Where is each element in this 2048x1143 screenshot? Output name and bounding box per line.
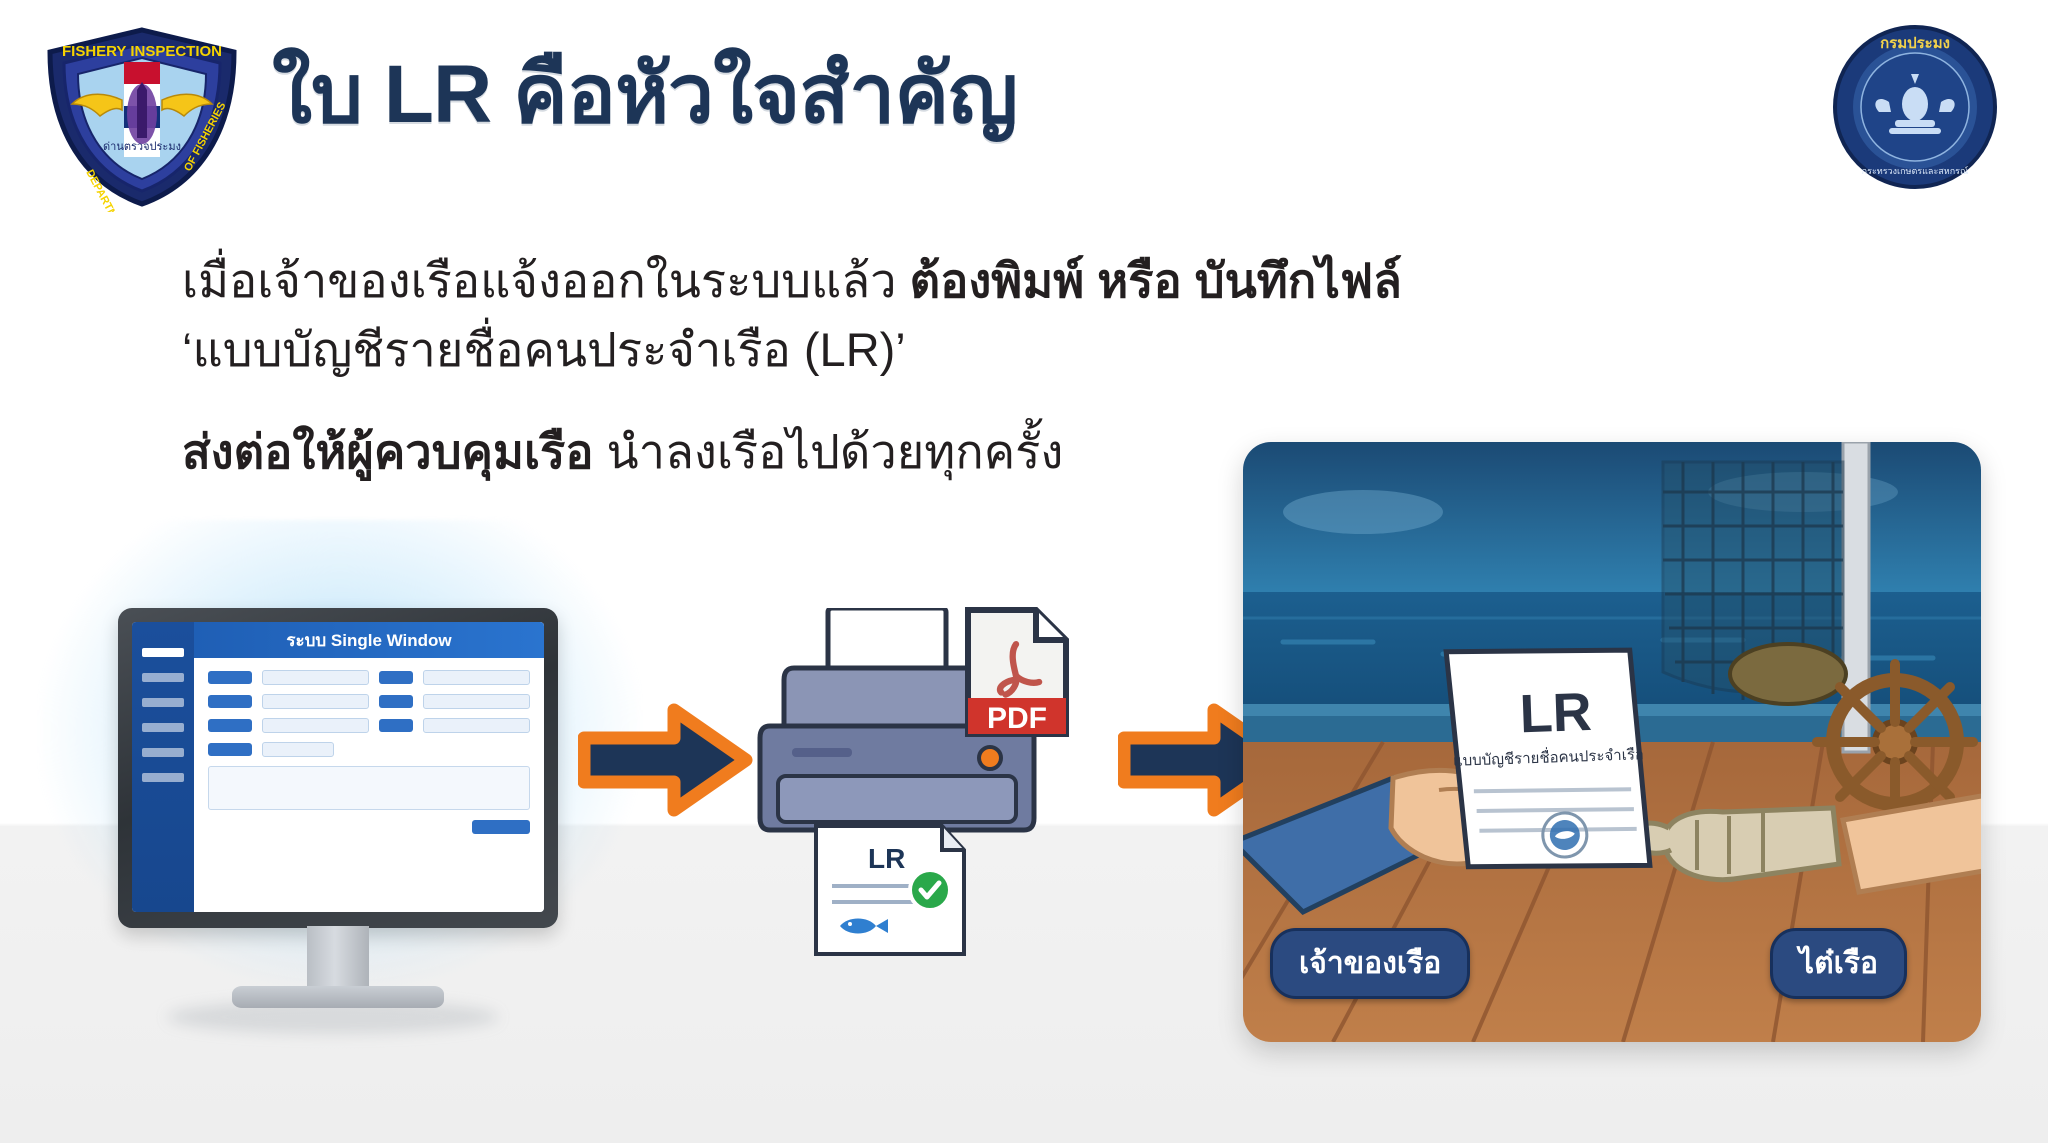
body-line-1-normal: เมื่อเจ้าของเรือแจ้งออกในระบบแล้ว	[182, 254, 910, 307]
monitor-stand-base	[232, 986, 444, 1008]
body-copy: เมื่อเจ้าของเรือแจ้งออกในระบบแล้ว ต้องพิ…	[182, 248, 1362, 486]
form-label-chip	[379, 719, 413, 732]
dof-seal-bottom-text: กระทรวงเกษตรและสหกรณ์	[1862, 165, 1969, 176]
badge-top-text: FISHERY INSPECTION	[62, 43, 222, 60]
form-input[interactable]	[423, 694, 530, 709]
form-textarea[interactable]	[208, 766, 530, 810]
form-input[interactable]	[262, 670, 369, 685]
app-form	[194, 658, 544, 846]
form-label-chip	[379, 695, 413, 708]
form-input[interactable]	[423, 718, 530, 733]
department-of-fisheries-seal: กรมประมง กระทรวงเกษตรและสหกรณ์	[1830, 22, 2000, 192]
sidebar-item-5[interactable]	[142, 748, 184, 757]
printed-lr-document: LR	[810, 822, 970, 960]
infographic-canvas: FISHERY INSPECTION DEPARTMENT OF FISHERI…	[0, 0, 2048, 1143]
body-line-1: เมื่อเจ้าของเรือแจ้งออกในระบบแล้ว ต้องพิ…	[182, 248, 1362, 315]
body-line-2: ‘แบบบัญชีรายชื่อคนประจำเรือ (LR)’	[182, 317, 1362, 384]
dof-seal-top-text: กรมประมง	[1880, 35, 1950, 52]
form-label-chip	[208, 719, 252, 732]
body-line-3: ส่งต่อให้ผู้ควบคุมเรือ นำลงเรือไปด้วยทุก…	[182, 419, 1362, 486]
form-label-chip	[208, 695, 252, 708]
badge-center-text: ด่านตรวจประมง	[103, 141, 181, 153]
app-title-bar: ระบบ Single Window	[194, 622, 544, 658]
form-label-chip	[208, 743, 252, 756]
lr-document-in-hand: LR แบบบัญชีรายชื่อคนประจำเรือ	[1431, 615, 1673, 901]
form-input[interactable]	[262, 742, 334, 757]
check-circle-icon	[910, 870, 950, 910]
lr-doc-title: LR	[1519, 682, 1593, 744]
pdf-file-icon: PDF	[962, 604, 1072, 740]
body-line-3-bold: ส่งต่อให้ผู้ควบคุมเรือ	[182, 425, 593, 478]
fishery-inspection-seal: FISHERY INSPECTION DEPARTMENT OF FISHERI…	[38, 22, 246, 212]
sidebar-item-2[interactable]	[142, 673, 184, 682]
form-input[interactable]	[423, 670, 530, 685]
page-title: ใบ LR คือหัวใจสำคัญ	[272, 52, 1017, 138]
tag-boat-owner: เจ้าของเรือ	[1270, 928, 1470, 999]
body-line-1-bold: ต้องพิมพ์ หรือ บันทึกไฟล์	[910, 254, 1402, 307]
pdf-label: PDF	[987, 702, 1047, 735]
form-row-1	[208, 670, 530, 685]
body-line-3-normal: นำลงเรือไปด้วยทุกครั้ง	[593, 425, 1063, 478]
app-main: ระบบ Single Window	[194, 622, 544, 912]
printer-power-led	[979, 747, 1001, 769]
desktop-monitor: ระบบ Single Window	[118, 608, 558, 928]
form-input[interactable]	[262, 718, 369, 733]
tag-skipper: ไต๋เรือ	[1770, 928, 1907, 999]
sidebar-item-1[interactable]	[142, 648, 184, 657]
sidebar-item-6[interactable]	[142, 773, 184, 782]
form-row-2	[208, 694, 530, 709]
sidebar-item-3[interactable]	[142, 698, 184, 707]
printed-doc-title: LR	[868, 843, 905, 874]
form-row-4	[208, 742, 530, 757]
arrow-right-icon	[578, 700, 753, 825]
sidebar-item-4[interactable]	[142, 723, 184, 732]
monitor-stand-neck	[307, 926, 369, 992]
form-label-chip	[208, 671, 252, 684]
app-sidebar[interactable]	[132, 622, 194, 912]
form-row-3	[208, 718, 530, 733]
form-label-chip	[379, 671, 413, 684]
submit-button[interactable]	[472, 820, 530, 834]
ships-wheel-icon	[1817, 664, 1973, 820]
form-input[interactable]	[262, 694, 369, 709]
monitor-screen: ระบบ Single Window	[132, 622, 544, 912]
